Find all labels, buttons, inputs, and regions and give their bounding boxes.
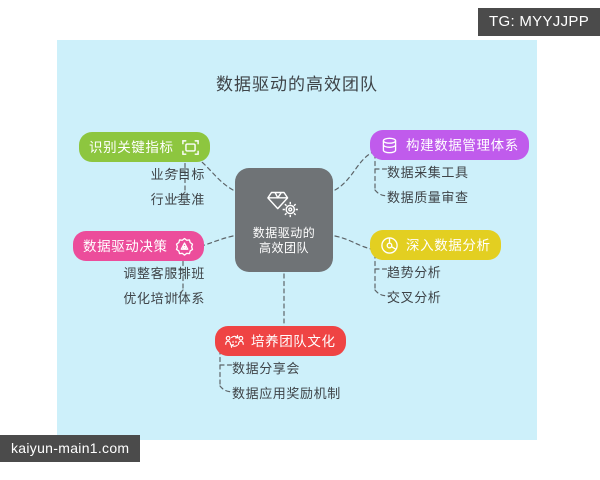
diamond-gear-icon (264, 188, 304, 222)
list-item: 数据采集工具 (387, 160, 547, 185)
center-node[interactable]: 数据驱动的 高效团队 (235, 168, 333, 272)
team-collaboration-icon (225, 332, 244, 351)
screenshot-root: TG: MYYJJPP 数据驱动的高效团队 (0, 0, 600, 480)
link-center-govern (335, 152, 373, 190)
list-item: 优化培训体系 (57, 286, 205, 311)
list-item: 趋势分析 (387, 260, 547, 285)
branch-node-decision[interactable]: 数据驱动决策 (73, 231, 204, 261)
branch-label-govern: 构建数据管理体系 (406, 136, 519, 155)
link-center-analysis (335, 236, 375, 250)
branch-label-decision: 数据驱动决策 (83, 237, 168, 256)
branch-children-kpi: 业务目标 行业基准 (57, 162, 205, 212)
list-item: 数据应用奖励机制 (232, 381, 452, 406)
database-icon (380, 136, 399, 155)
watermark-bottom-left: kaiyun-main1.com (0, 435, 140, 462)
branch-children-decision: 调整客服排班 优化培训体系 (57, 261, 205, 311)
pie-chart-icon (380, 236, 399, 255)
center-node-label: 数据驱动的 高效团队 (253, 226, 316, 256)
list-item: 数据分享会 (232, 356, 452, 381)
branch-node-kpi[interactable]: 识别关键指标 (79, 132, 210, 162)
branch-label-kpi: 识别关键指标 (89, 138, 174, 157)
branch-node-analysis[interactable]: 深入数据分析 (370, 230, 501, 260)
page-title: 数据驱动的高效团队 (57, 70, 537, 95)
watermark-top-right: TG: MYYJJPP (478, 8, 600, 36)
target-frame-icon (181, 138, 200, 157)
branch-children-govern: 数据采集工具 数据质量审查 (387, 160, 547, 210)
branch-node-govern[interactable]: 构建数据管理体系 (370, 130, 529, 160)
list-item: 调整客服排班 (57, 261, 205, 286)
branch-children-analysis: 趋势分析 交叉分析 (387, 260, 547, 310)
list-item: 数据质量审查 (387, 185, 547, 210)
branch-label-analysis: 深入数据分析 (406, 236, 491, 255)
list-item: 行业基准 (57, 187, 205, 212)
list-item: 交叉分析 (387, 285, 547, 310)
mindmap-canvas: 数据驱动的高效团队 (57, 40, 537, 440)
list-item: 业务目标 (57, 162, 205, 187)
branch-children-culture: 数据分享会 数据应用奖励机制 (232, 356, 452, 406)
gear-badge-icon (175, 237, 194, 256)
branch-node-culture[interactable]: 培养团队文化 (215, 326, 346, 356)
branch-label-culture: 培养团队文化 (251, 332, 336, 351)
